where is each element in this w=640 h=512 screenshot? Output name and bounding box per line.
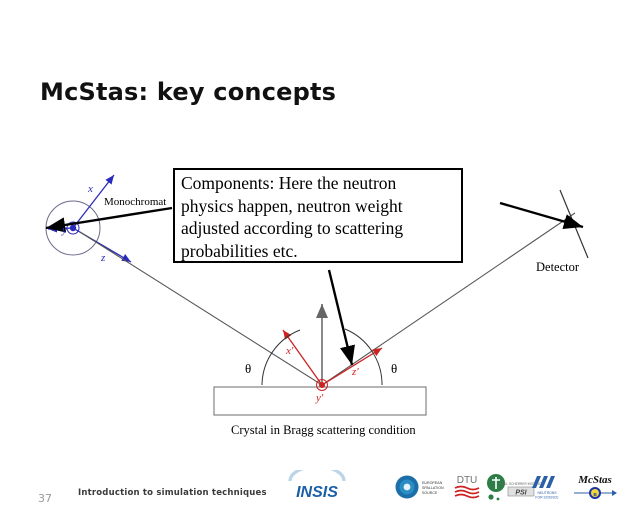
monochromator-label: Monochromat (104, 196, 174, 208)
crystal-z-prime-label: z' (352, 366, 359, 378)
monochromator-y-label: y (62, 224, 67, 236)
callout-line-3: adjusted according to scattering (181, 217, 457, 240)
mcstas-logo-text: McStas (577, 474, 612, 486)
footer-subtitle: Introduction to simulation techniques (78, 488, 267, 498)
theta-right-label: θ (391, 361, 397, 377)
insis-logo: INSIS (284, 470, 350, 500)
insis-logo-text: INSIS (296, 484, 338, 500)
callout-line-4: probabilities etc. (181, 240, 457, 263)
dtu-logo: DTU (452, 472, 482, 502)
psi-logo-text: PSI (515, 490, 527, 497)
crystal-origin-dot (319, 382, 325, 388)
theta-left-arc (262, 330, 300, 385)
neutrons-logo-line1: NEUTRONS (537, 491, 557, 495)
mcstas-logo: McStas n (566, 472, 624, 500)
crystal-caption: Crystal in Bragg scattering condition (231, 423, 416, 438)
ess-logo-line3: SOURCE (422, 491, 438, 495)
neutrons-logo-line2: FOR SCIENCE (535, 496, 559, 500)
callout-line-1: Components: Here the neutron (181, 172, 457, 195)
ess-logo: EUROPEAN SPALLATION SOURCE (394, 474, 456, 500)
monochromator-z-label: z (101, 252, 105, 264)
monochromator-x-label: x (88, 183, 93, 195)
crystal-y-prime-label: y' (316, 392, 323, 404)
dtu-logo-text: DTU (457, 475, 478, 486)
slide-canvas: McStas: key concepts (0, 0, 640, 512)
ess-logo-line2: SPALLATION (422, 486, 444, 490)
callout-line-2: physics happen, neutron weight (181, 195, 457, 218)
callout-pointer-arrow (329, 270, 352, 365)
theta-left-label: θ (245, 361, 251, 377)
monochromator-group (46, 175, 172, 262)
detector-label: Detector (536, 260, 579, 275)
monochromator-origin-dot (70, 225, 76, 231)
neutrons-for-science-logo: NEUTRONS FOR SCIENCE (528, 474, 566, 500)
ess-logo-line1: EUROPEAN (422, 481, 443, 485)
detector-group (500, 190, 588, 258)
components-callout-box: Components: Here the neutron physics hap… (173, 168, 463, 263)
crystal-x-prime-label: x' (286, 345, 293, 357)
crystal-x-prime-axis (283, 330, 322, 385)
page-number: 37 (38, 492, 52, 505)
